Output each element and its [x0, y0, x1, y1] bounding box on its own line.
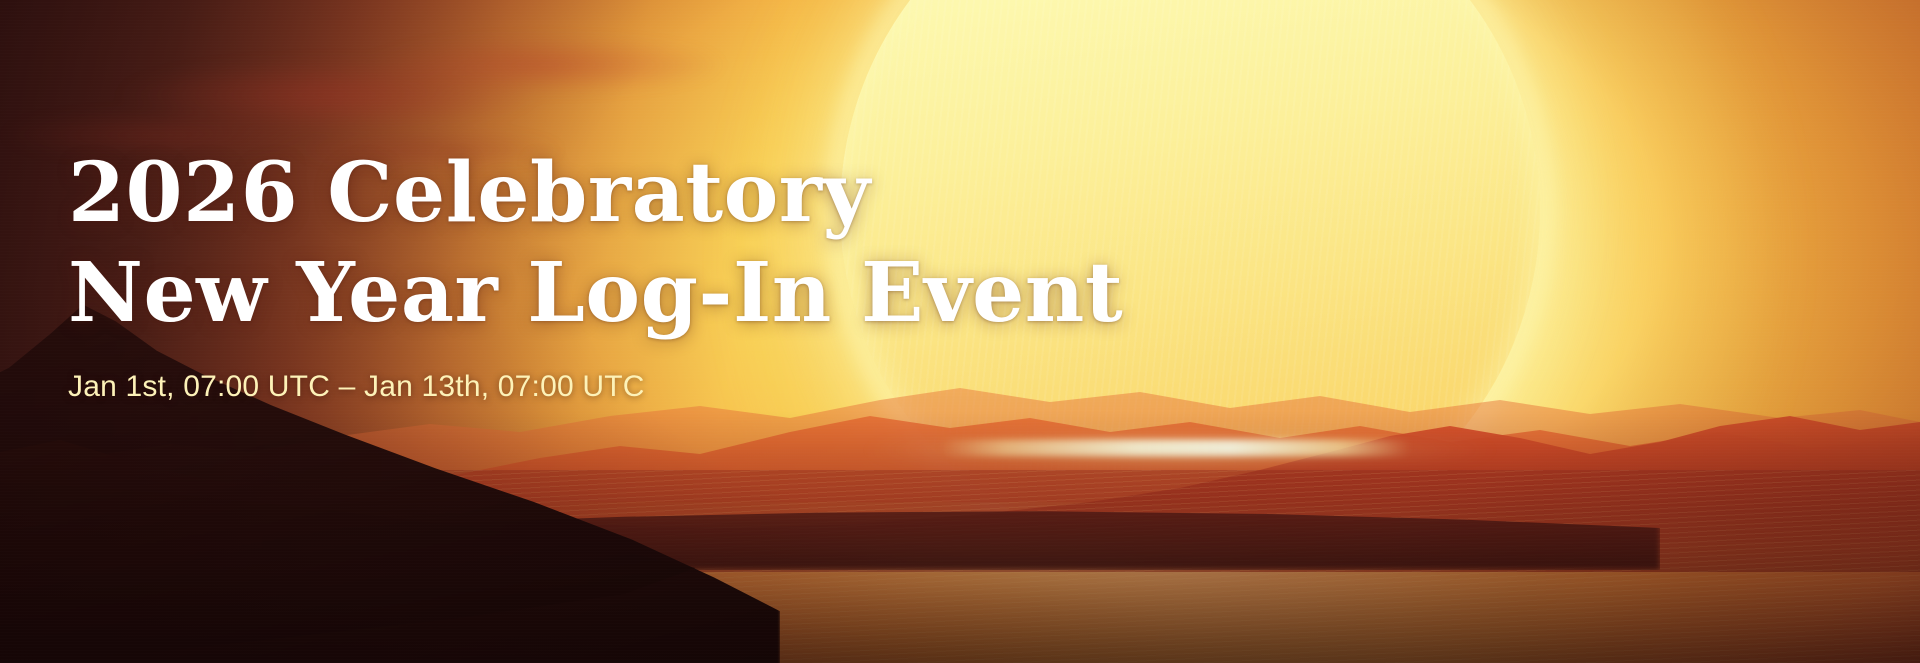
- banner-copy-block: 2026 Celebratory New Year Log-In Event J…: [68, 152, 1368, 404]
- event-period-text: Jan 1st, 07:00 UTC – Jan 13th, 07:00 UTC: [68, 370, 1368, 404]
- event-banner: 2026 Celebratory New Year Log-In Event J…: [0, 0, 1920, 663]
- banner-title-line-1: 2026 Celebratory: [68, 152, 1368, 234]
- banner-title-line-2: New Year Log-In Event: [68, 252, 1368, 334]
- horizon-glow-band: [940, 440, 1410, 456]
